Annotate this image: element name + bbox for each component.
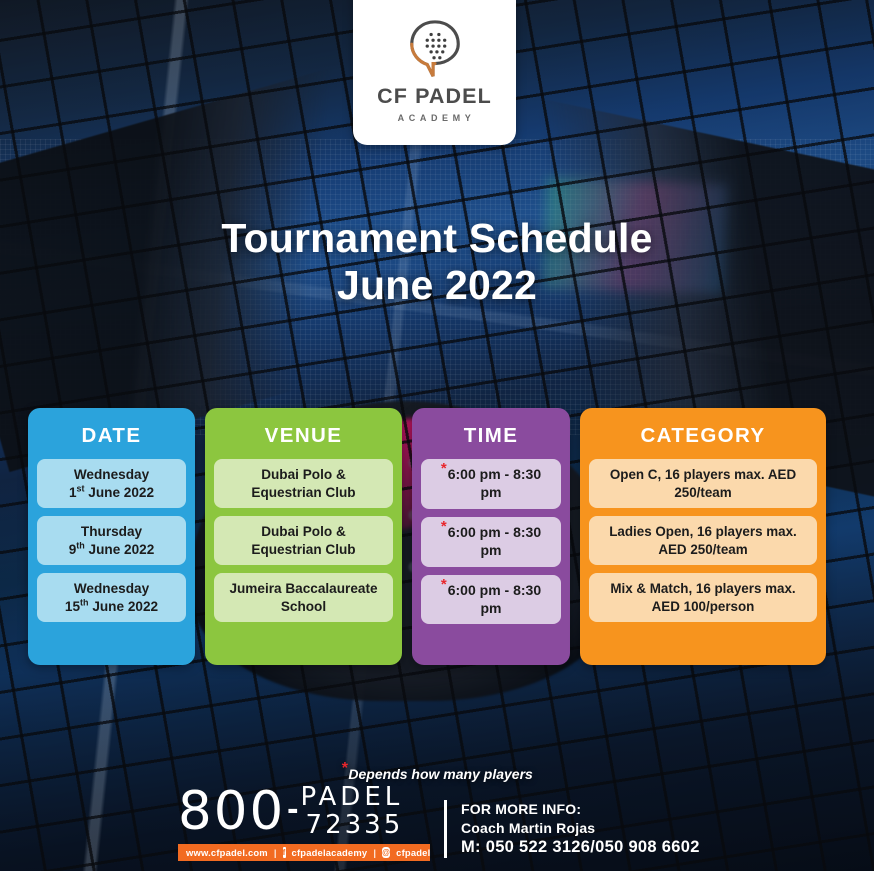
phone-prefix: 800 [178,788,285,836]
column-venue: VENUE Dubai Polo & Equestrian Club Dubai… [205,408,402,665]
phone-word: PADEL [301,784,404,811]
column-header-venue: VENUE [214,418,393,459]
table-cell-category: Open C, 16 players max. AED 250/team [589,459,817,508]
category-line-1: Open C, 16 players max. AED [610,467,796,482]
date-month-year: June 2022 [85,485,155,500]
facebook-handle[interactable]: cfpadelacademy [292,847,368,858]
time-text: 6:00 pm - 8:30 pm [448,466,541,500]
table-cell-date: Thursday 9th June 2022 [37,516,186,565]
title-line-2: June 2022 [0,262,874,309]
venue-line-1: Jumeira Baccalaureate [229,581,377,596]
table-cell-date: Wednesday 1st June 2022 [37,459,186,508]
category-line-1: Mix & Match, 16 players max. [610,581,795,596]
footnote-asterisk: * [341,760,347,777]
instagram-icon[interactable]: @ [382,847,390,858]
venue-line-1: Dubai Polo & [261,467,346,482]
asterisk-marker: * [441,518,447,535]
venue-line-2: Equestrian Club [251,542,355,557]
venue-line-2: Equestrian Club [251,485,355,500]
footer-brand-block: 800 - PADEL 72335 www.cfpadel.com | f cf… [178,784,430,861]
phone-digits: 72335 [301,812,404,839]
date-ordinal: th [80,597,89,607]
poster: CF PADEL ACADEMY Tournament Schedule Jun… [0,0,874,871]
social-separator-2: | [373,847,376,858]
facebook-icon[interactable]: f [283,847,286,858]
table-cell-date: Wednesday 15th June 2022 [37,573,186,622]
table-cell-category: Ladies Open, 16 players max. AED 250/tea… [589,516,817,565]
column-category: CATEGORY Open C, 16 players max. AED 250… [580,408,826,665]
padel-racket-logo-icon [404,18,466,80]
table-cell-time: *6:00 pm - 8:30 pm [421,517,561,567]
date-day: Thursday [81,524,142,539]
logo-card: CF PADEL ACADEMY [353,0,516,145]
date-month-year: June 2022 [89,599,159,614]
table-cell-venue: Dubai Polo & Equestrian Club [214,459,393,508]
column-header-category: CATEGORY [589,418,817,459]
contact-mobile: M: 050 522 3126/050 908 6602 [461,837,700,859]
contact-coach-name: Coach Martin Rojas [461,819,700,837]
footer-phone: 800 - PADEL 72335 [178,784,403,839]
category-line-1: Ladies Open, 16 players max. [609,524,797,539]
date-number: 15 [65,599,80,614]
title-line-1: Tournament Schedule [0,215,874,262]
social-separator-1: | [274,847,277,858]
date-number: 1 [69,485,77,500]
table-cell-venue: Dubai Polo & Equestrian Club [214,516,393,565]
footer-divider [444,800,447,858]
category-line-2: AED 250/team [658,542,747,557]
date-day: Wednesday [74,581,149,596]
phone-dash: - [287,792,298,826]
date-month-year: June 2022 [85,542,155,557]
instagram-handle[interactable]: cfpadel [396,847,430,858]
date-ordinal: th [76,540,85,550]
social-bar[interactable]: www.cfpadel.com | f cfpadelacademy | @ c… [178,844,430,861]
column-date: DATE Wednesday 1st June 2022 Thursday 9t… [28,408,195,665]
column-header-date: DATE [37,418,186,459]
schedule-table: DATE Wednesday 1st June 2022 Thursday 9t… [28,408,846,665]
date-ordinal: st [77,483,85,493]
logo-wordmark: CF PADEL [377,86,492,108]
date-day: Wednesday [74,467,149,482]
footnote: *Depends how many players [0,766,874,782]
category-line-2: AED 100/person [652,599,755,614]
contact-info-label: FOR MORE INFO: [461,800,700,818]
time-text: 6:00 pm - 8:30 pm [448,524,541,558]
table-cell-category: Mix & Match, 16 players max. AED 100/per… [589,573,817,622]
column-time: TIME *6:00 pm - 8:30 pm *6:00 pm - 8:30 … [412,408,570,665]
asterisk-marker: * [441,576,447,593]
page-title: Tournament Schedule June 2022 [0,215,874,308]
venue-line-1: Dubai Polo & [261,524,346,539]
category-line-2: 250/team [674,485,731,500]
venue-line-2: School [281,599,326,614]
footer-contact: FOR MORE INFO: Coach Martin Rojas M: 050… [461,800,700,861]
logo-subtitle: ACADEMY [398,114,476,123]
table-cell-venue: Jumeira Baccalaureate School [214,573,393,622]
footnote-text: Depends how many players [348,766,532,782]
table-cell-time: *6:00 pm - 8:30 pm [421,459,561,509]
table-cell-time: *6:00 pm - 8:30 pm [421,575,561,625]
website-link[interactable]: www.cfpadel.com [186,847,268,858]
phone-stack: PADEL 72335 [301,784,404,839]
time-text: 6:00 pm - 8:30 pm [448,582,541,616]
asterisk-marker: * [441,460,447,477]
column-header-time: TIME [421,418,561,459]
footer: 800 - PADEL 72335 www.cfpadel.com | f cf… [178,784,700,861]
